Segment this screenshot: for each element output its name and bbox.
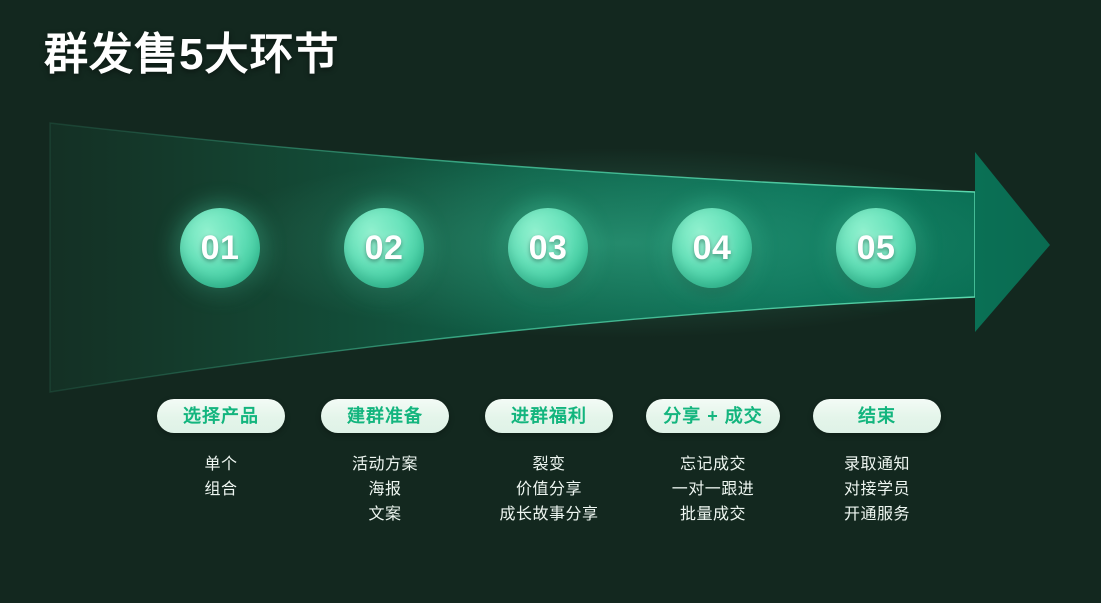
list-item: 开通服务: [813, 502, 941, 527]
list-item: 一对一跟进: [649, 477, 777, 502]
step-items-04: 忘记成交 一对一跟进 批量成交: [649, 452, 777, 527]
step-label-04: 分享 + 成交: [663, 407, 763, 425]
step-items-01: 单个 组合: [157, 452, 285, 502]
step-circle-02[interactable]: 02: [344, 208, 424, 288]
list-item: 活动方案: [321, 452, 449, 477]
step-items-03: 裂变 价值分享 成长故事分享: [485, 452, 613, 527]
arrow-head: [975, 152, 1050, 332]
step-number-03: 03: [529, 231, 568, 265]
list-item: 海报: [321, 477, 449, 502]
list-item: 成长故事分享: [485, 502, 613, 527]
list-item: 裂变: [485, 452, 613, 477]
step-pill-03[interactable]: 进群福利: [485, 399, 613, 433]
list-item: 组合: [157, 477, 285, 502]
step-number-01: 01: [201, 231, 240, 265]
step-pill-02[interactable]: 建群准备: [321, 399, 449, 433]
step-label-03: 进群福利: [511, 407, 587, 425]
step-number-04: 04: [693, 231, 732, 265]
list-item: 忘记成交: [649, 452, 777, 477]
step-label-01: 选择产品: [183, 407, 259, 425]
slide-canvas: 群发售5大环节: [0, 0, 1101, 603]
step-circle-03[interactable]: 03: [508, 208, 588, 288]
step-items-02: 活动方案 海报 文案: [321, 452, 449, 527]
step-pill-01[interactable]: 选择产品: [157, 399, 285, 433]
list-item: 对接学员: [813, 477, 941, 502]
step-label-05: 结束: [858, 407, 896, 425]
step-pill-04[interactable]: 分享 + 成交: [646, 399, 780, 433]
step-label-02: 建群准备: [347, 407, 423, 425]
step-circle-01[interactable]: 01: [180, 208, 260, 288]
step-pill-05[interactable]: 结束: [813, 399, 941, 433]
step-number-05: 05: [857, 231, 896, 265]
list-item: 价值分享: [485, 477, 613, 502]
list-item: 录取通知: [813, 452, 941, 477]
step-circle-04[interactable]: 04: [672, 208, 752, 288]
list-item: 文案: [321, 502, 449, 527]
list-item: 批量成交: [649, 502, 777, 527]
step-items-05: 录取通知 对接学员 开通服务: [813, 452, 941, 527]
list-item: 单个: [157, 452, 285, 477]
step-circle-05[interactable]: 05: [836, 208, 916, 288]
step-number-02: 02: [365, 231, 404, 265]
